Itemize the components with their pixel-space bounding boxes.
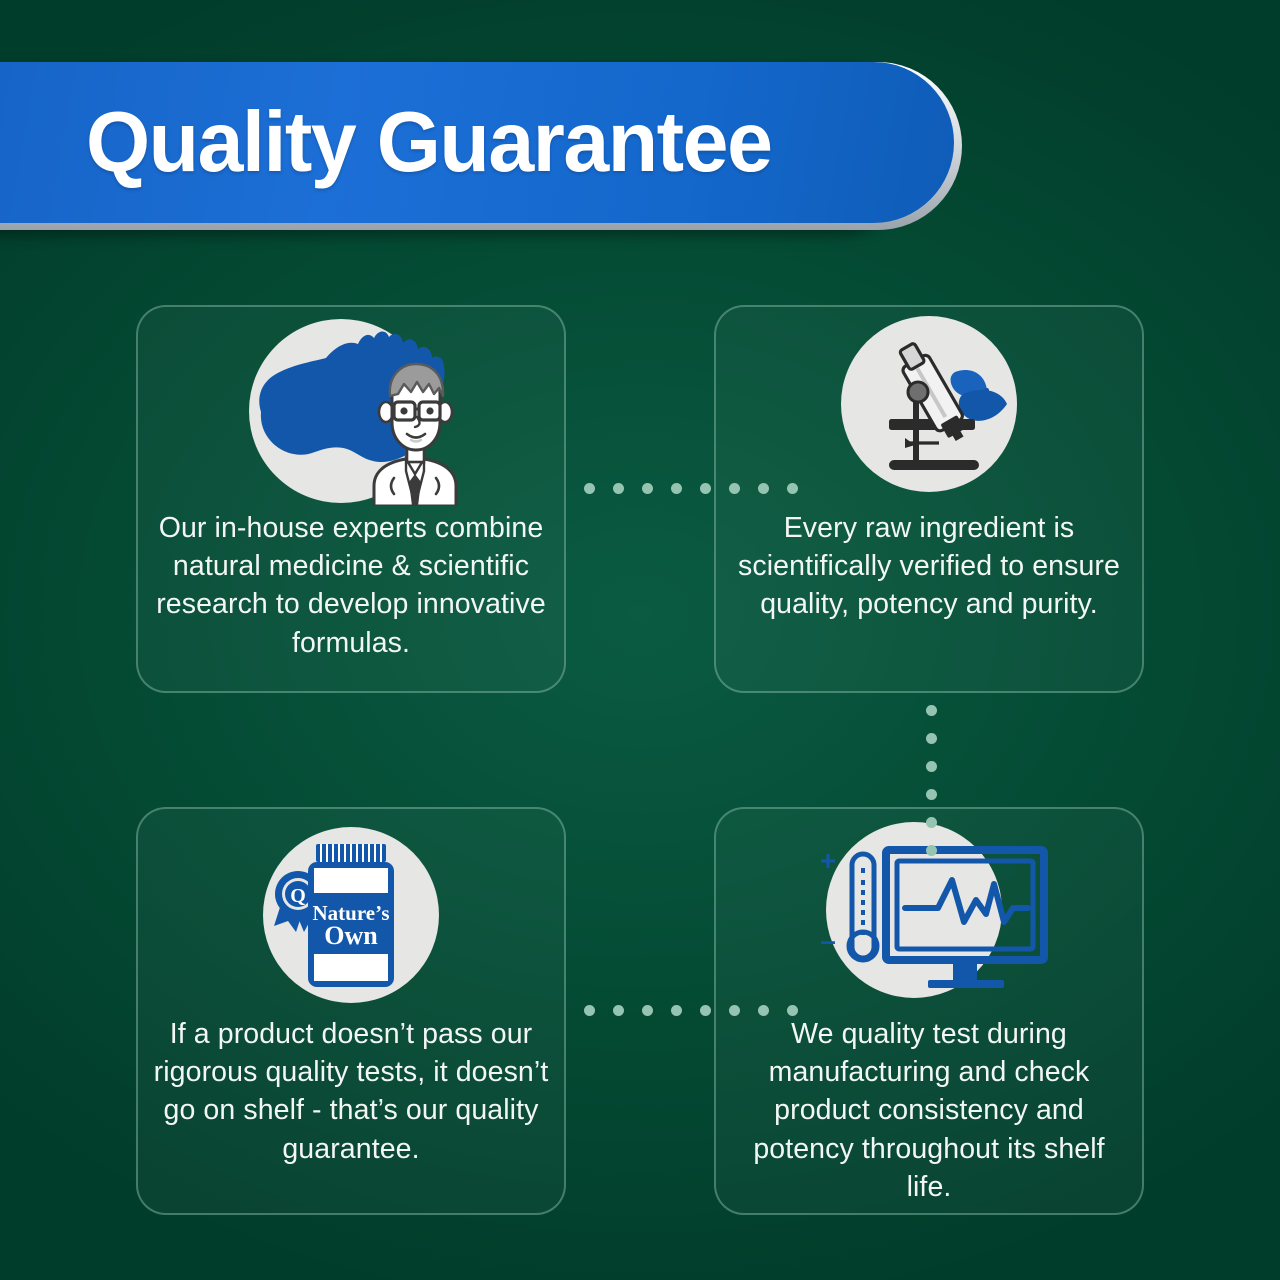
connector-dot [787, 483, 798, 494]
connector-dot [729, 1005, 740, 1016]
card3-text: If a product doesn’t pass our rigorous q… [138, 1015, 564, 1168]
connector-dot [584, 1005, 595, 1016]
bottle-brand-line2: Own [324, 921, 378, 950]
connector-dot [729, 483, 740, 494]
connector-dot [700, 1005, 711, 1016]
connector-dot [700, 483, 711, 494]
card3-icon-box: Q [246, 819, 456, 1015]
card1-text: Our in-house experts combine natural med… [138, 509, 564, 662]
connector-dot [926, 733, 937, 744]
card2-icon-box [829, 313, 1029, 509]
connector-dot [926, 817, 937, 828]
card4-text: We quality test during manufacturing and… [716, 1015, 1142, 1206]
connector-card1-card2 [584, 483, 798, 494]
connector-dot [926, 705, 937, 716]
connector-dot [758, 1005, 769, 1016]
connector-dot [787, 1005, 798, 1016]
connector-card3-card4 [584, 1005, 798, 1016]
microscope-leaf-icon [829, 316, 1029, 506]
connector-dot [926, 761, 937, 772]
connector-dot [642, 483, 653, 494]
connector-dot [926, 845, 937, 856]
page-title: Quality Guarantee [86, 94, 771, 192]
card-in-house-experts[interactable]: Our in-house experts combine natural med… [136, 305, 566, 693]
svg-text:Q: Q [290, 885, 306, 907]
card1-icon-box [206, 313, 496, 509]
connector-card2-card4 [926, 705, 937, 856]
thermometer-plus: + [820, 845, 836, 876]
australia-map-scientist-icon [206, 316, 496, 506]
card-quality-tests-shelf[interactable]: Q [136, 807, 566, 1215]
cards-grid: Our in-house experts combine natural med… [136, 305, 1144, 1215]
connector-dot [584, 483, 595, 494]
connector-dot [758, 483, 769, 494]
connector-dot [613, 1005, 624, 1016]
card-raw-ingredient-verification[interactable]: Every raw ingredient is scientifically v… [714, 305, 1144, 693]
connector-dot [926, 789, 937, 800]
banner-body: Quality Guarantee [0, 62, 954, 223]
supplement-bottle-ribbon-icon: Q [246, 822, 456, 1012]
connector-dot [671, 1005, 682, 1016]
connector-dot [642, 1005, 653, 1016]
header-banner: Quality Guarantee [0, 62, 960, 230]
card2-text: Every raw ingredient is scientifically v… [716, 509, 1142, 624]
connector-dot [671, 483, 682, 494]
thermometer-minus: – [820, 925, 836, 956]
connector-dot [613, 483, 624, 494]
quality-guarantee-infographic: Quality Guarantee [0, 0, 1280, 1280]
